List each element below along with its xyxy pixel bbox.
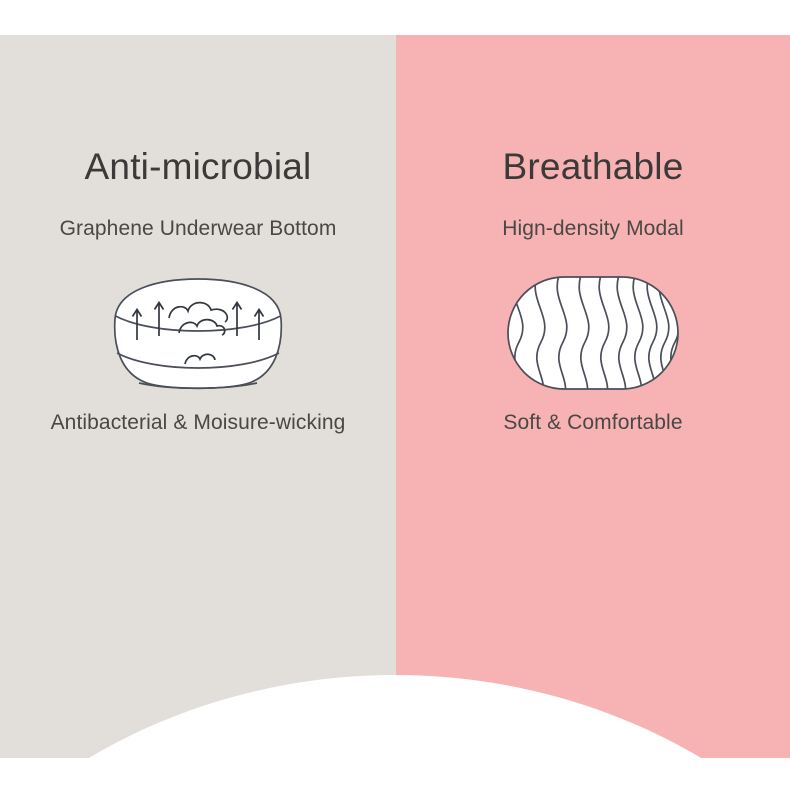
fabric-airflow-bacteria-icon bbox=[0, 270, 396, 395]
feature-subtitle-anti-microbial: Graphene Underwear Bottom bbox=[0, 218, 396, 239]
fabric-airflow-bacteria-icon-svg bbox=[109, 274, 287, 392]
feature-column-breathable: Breathable Hign-density Modal bbox=[396, 0, 790, 723]
feature-caption-breathable: Soft & Comfortable bbox=[396, 412, 790, 433]
feature-column-anti-microbial: Anti-microbial Graphene Underwear Bottom bbox=[0, 0, 396, 723]
fabric-blob-outline bbox=[115, 279, 282, 388]
fabric-wave-weave-icon-svg bbox=[507, 276, 679, 390]
feature-title-breathable: Breathable bbox=[396, 148, 790, 185]
fabric-wave-weave-icon bbox=[396, 270, 790, 395]
feature-subtitle-breathable: Hign-density Modal bbox=[396, 218, 790, 239]
product-feature-banner: Anti-microbial Graphene Underwear Bottom bbox=[0, 0, 790, 790]
feature-title-anti-microbial: Anti-microbial bbox=[0, 148, 396, 185]
feature-caption-anti-microbial: Antibacterial & Moisure-wicking bbox=[0, 412, 396, 433]
bottom-white-margin bbox=[0, 758, 790, 790]
